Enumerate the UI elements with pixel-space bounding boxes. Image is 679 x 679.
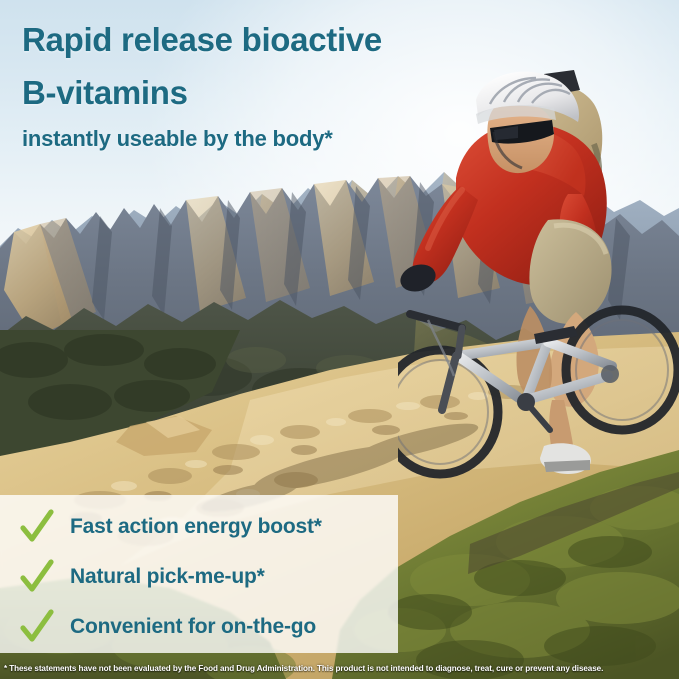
benefit-item: Convenient for on-the-go xyxy=(0,602,398,652)
product-banner: Rapid release bioactive B-vitamins insta… xyxy=(0,0,679,679)
bicycle xyxy=(398,310,678,474)
fda-disclaimer: * These statements have not been evaluat… xyxy=(0,664,679,673)
headline-block: Rapid release bioactive B-vitamins insta… xyxy=(22,18,492,152)
benefit-label: Natural pick-me-up* xyxy=(70,565,265,589)
benefit-label: Fast action energy boost* xyxy=(70,515,322,539)
headline-line-2: B-vitamins xyxy=(22,71,492,115)
check-icon xyxy=(20,509,54,545)
check-icon xyxy=(20,559,54,595)
benefit-item: Fast action energy boost* xyxy=(0,502,398,552)
check-icon xyxy=(20,609,54,645)
benefits-list: Fast action energy boost* Natural pick-m… xyxy=(0,495,398,653)
benefit-item: Natural pick-me-up* xyxy=(0,552,398,602)
sub-headline: instantly useable by the body* xyxy=(22,126,492,152)
headline-line-1: Rapid release bioactive xyxy=(22,18,492,62)
benefit-label: Convenient for on-the-go xyxy=(70,615,316,639)
